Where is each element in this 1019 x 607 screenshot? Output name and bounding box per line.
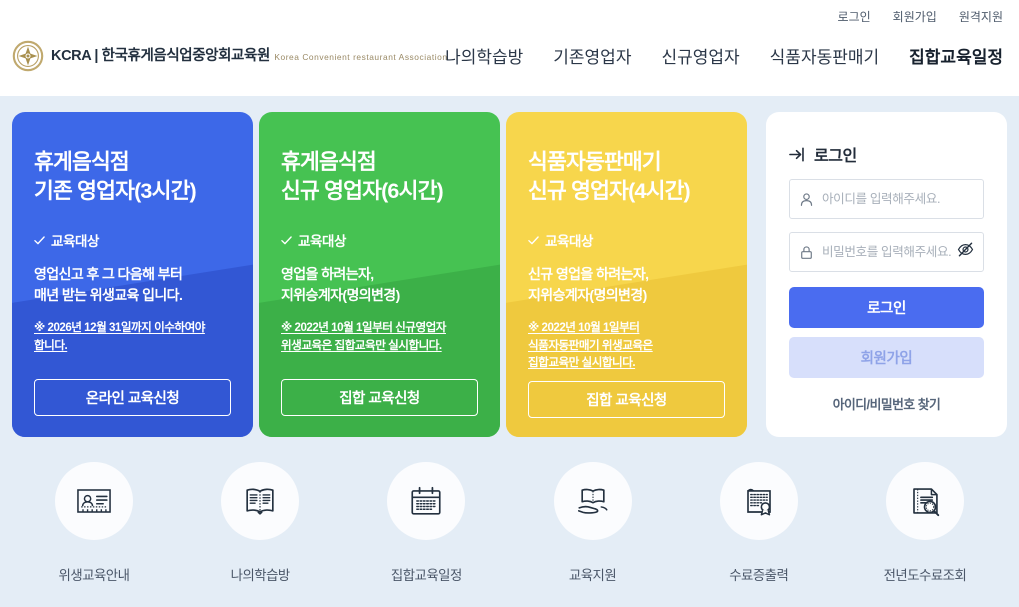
quick-icon-circle <box>554 462 632 540</box>
find-id-password-link[interactable]: 아이디/비밀번호 찾기 <box>789 394 984 413</box>
utilnav-remote-support[interactable]: 원격지원 <box>959 8 1003 25</box>
main-nav: 나의학습방 기존영업자 신규영업자 식품자동판매기 집합교육일정 <box>445 43 1003 68</box>
login-password-input[interactable] <box>822 245 951 259</box>
card-title: 식품자동판매기 신규 영업자(4시간) <box>528 148 725 205</box>
quick-item-education-support[interactable]: 교육지원 <box>517 462 669 584</box>
card-note: ※ 2022년 10월 1일부터 식품자동판매기 위생교육은 집합교육만 실시합… <box>528 319 725 372</box>
nav-item-group-education-schedule[interactable]: 집합교육일정 <box>909 43 1003 68</box>
login-id-input[interactable] <box>822 192 974 206</box>
login-id-field[interactable] <box>789 179 984 219</box>
quick-icon-circle <box>720 462 798 540</box>
quick-icon-circle <box>221 462 299 540</box>
card-description: 영업을 하려는자, 지위승계자(명의변경) <box>281 264 478 306</box>
certificate-icon <box>737 479 781 523</box>
promo-card-new-operator[interactable]: 휴게음식점 신규 영업자(6시간) 교육대상 영업을 하려는자, 지위승계자(명… <box>259 112 500 437</box>
brand-subtitle: Korea Convenient restaurant Association <box>274 52 447 62</box>
quick-item-hygiene-guide[interactable]: 위생교육안내 <box>18 462 170 584</box>
utility-nav: 로그인 회원가입 원격지원 <box>838 8 1003 25</box>
quick-item-label: 전년도수료조회 <box>884 564 967 584</box>
quick-item-label: 위생교육안내 <box>59 564 130 584</box>
nav-item-new-operator[interactable]: 신규영업자 <box>661 43 739 68</box>
kcra-emblem-icon <box>12 40 44 72</box>
card-target-row: 교육대상 <box>34 230 231 250</box>
card-target-label: 교육대상 <box>545 230 593 250</box>
card-apply-button[interactable]: 집합 교육신청 <box>281 379 478 416</box>
quick-item-previous-year-lookup[interactable]: 전년도수료조회 <box>849 462 1001 584</box>
login-heading-label: 로그인 <box>814 142 857 166</box>
quick-item-certificate-print[interactable]: 수료증출력 <box>683 462 835 584</box>
promo-card-row: 휴게음식점 기존 영업자(3시간) 교육대상 영업신고 후 그 다음해 부터 매… <box>12 112 747 437</box>
user-icon <box>799 192 814 207</box>
login-panel: 로그인 로그인 회원가입 아이디/비밀번호 찾기 <box>766 112 1007 437</box>
quick-item-label: 수료증출력 <box>729 564 788 584</box>
card-title: 휴게음식점 신규 영업자(6시간) <box>281 148 478 205</box>
promo-card-vending-machine[interactable]: 식품자동판매기 신규 영업자(4시간) 교육대상 신규 영업을 하려는자, 지위… <box>506 112 747 437</box>
card-target-row: 교육대상 <box>281 230 478 250</box>
site-header: 로그인 회원가입 원격지원 KCRA | 한국휴게음식업중앙회교육원 Korea… <box>0 0 1019 96</box>
card-target-label: 교육대상 <box>51 230 99 250</box>
quick-item-label: 나의학습방 <box>231 564 290 584</box>
brand-logo[interactable]: KCRA | 한국휴게음식업중앙회교육원 Korea Convenient re… <box>12 40 448 72</box>
quick-item-my-learning[interactable]: 나의학습방 <box>184 462 336 584</box>
card-target-label: 교육대상 <box>298 230 346 250</box>
nav-item-vending-machine[interactable]: 식품자동판매기 <box>770 43 879 68</box>
quick-item-label: 교육지원 <box>569 564 616 584</box>
signup-button[interactable]: 회원가입 <box>789 337 984 378</box>
check-icon <box>528 235 539 246</box>
check-icon <box>34 235 45 246</box>
login-submit-button[interactable]: 로그인 <box>789 287 984 328</box>
sign-in-icon <box>789 146 806 163</box>
quick-menu: 위생교육안내 나의학습방 집합교육일정 <box>0 462 1019 584</box>
password-visibility-toggle-icon[interactable] <box>957 241 974 263</box>
id-card-icon <box>72 479 116 523</box>
quick-icon-circle <box>886 462 964 540</box>
nav-item-existing-operator[interactable]: 기존영업자 <box>553 43 631 68</box>
calendar-icon <box>404 479 448 523</box>
lock-icon <box>799 245 814 260</box>
document-search-icon <box>903 479 947 523</box>
utilnav-signup[interactable]: 회원가입 <box>893 8 937 25</box>
promo-card-existing-operator[interactable]: 휴게음식점 기존 영업자(3시간) 교육대상 영업신고 후 그 다음해 부터 매… <box>12 112 253 437</box>
utilnav-login[interactable]: 로그인 <box>838 8 871 25</box>
brand-title: KCRA | 한국휴게음식업중앙회교육원 <box>51 48 270 64</box>
card-note: ※ 2026년 12월 31일까지 이수하여야 합니다. <box>34 319 231 354</box>
card-description: 영업신고 후 그 다음해 부터 매년 받는 위생교육 입니다. <box>34 264 231 306</box>
quick-icon-circle <box>387 462 465 540</box>
book-on-hand-icon <box>571 479 615 523</box>
check-icon <box>281 235 292 246</box>
card-title: 휴게음식점 기존 영업자(3시간) <box>34 148 231 205</box>
login-password-field[interactable] <box>789 232 984 272</box>
open-book-icon <box>238 479 282 523</box>
card-note: ※ 2022년 10월 1일부터 신규영업자 위생교육은 집합교육만 실시합니다… <box>281 319 478 354</box>
nav-item-my-learning[interactable]: 나의학습방 <box>445 43 523 68</box>
card-description: 신규 영업을 하려는자, 지위승계자(명의변경) <box>528 264 725 306</box>
login-panel-heading: 로그인 <box>789 142 984 166</box>
card-target-row: 교육대상 <box>528 230 725 250</box>
card-apply-button[interactable]: 집합 교육신청 <box>528 381 725 418</box>
card-apply-button[interactable]: 온라인 교육신청 <box>34 379 231 416</box>
quick-item-label: 집합교육일정 <box>391 564 462 584</box>
quick-item-group-schedule[interactable]: 집합교육일정 <box>350 462 502 584</box>
quick-icon-circle <box>55 462 133 540</box>
